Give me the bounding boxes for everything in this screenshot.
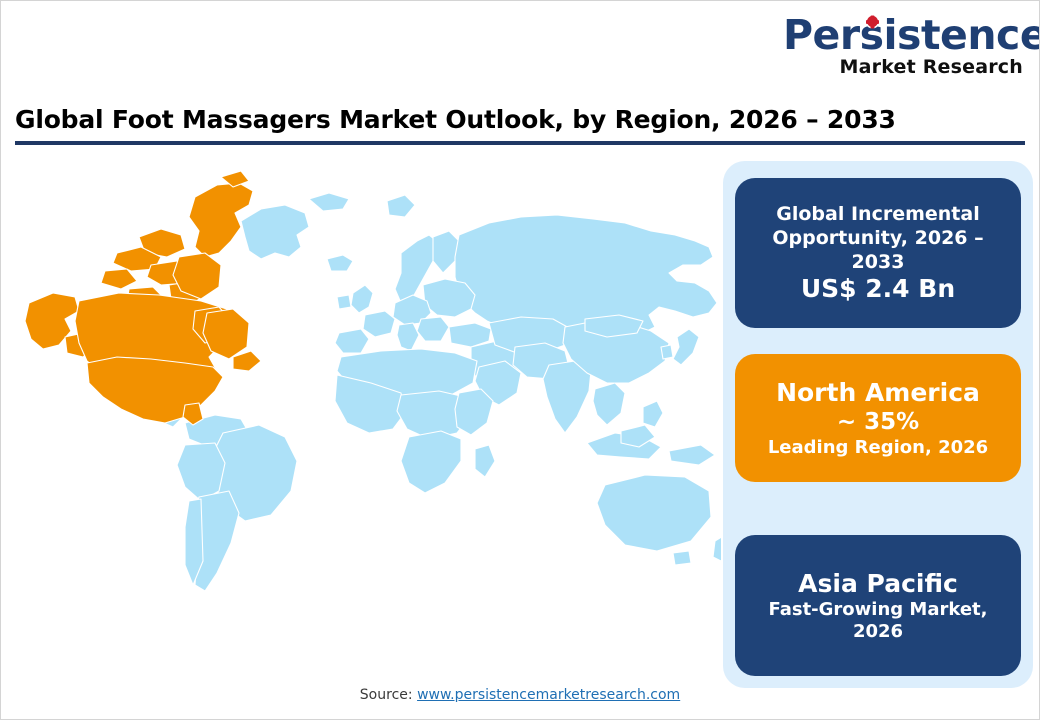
source-link[interactable]: www.persistencemarketresearch.com xyxy=(417,687,680,703)
gear-dot-icon xyxy=(867,16,878,27)
card-global-incremental-opportunity[interactable]: Global Incremental Opportunity, 2026 – 2… xyxy=(735,178,1021,328)
stats-panel: Global Incremental Opportunity, 2026 – 2… xyxy=(723,161,1033,688)
world-map-svg xyxy=(9,161,721,671)
card1-line2: Opportunity, 2026 – xyxy=(772,226,983,250)
region-tasmania xyxy=(673,551,691,565)
card1-value: US$ 2.4 Bn xyxy=(801,274,955,304)
infographic-root: Persistence Market Research Global Foot … xyxy=(0,0,1040,720)
region-philippines xyxy=(643,401,663,427)
region-ireland xyxy=(337,295,351,309)
region-new-guinea xyxy=(669,445,715,465)
card3-line1: Asia Pacific xyxy=(798,568,958,599)
region-svalbard xyxy=(387,195,415,217)
region-madagascar xyxy=(475,445,495,477)
world-map xyxy=(9,161,721,671)
title-divider xyxy=(15,141,1025,145)
page-title: Global Foot Massagers Market Outlook, by… xyxy=(15,105,1025,134)
region-iceland xyxy=(327,255,353,271)
card-fast-growing-market[interactable]: Asia Pacific Fast-Growing Market, 2026 xyxy=(735,535,1021,676)
region-southern-africa xyxy=(401,431,461,493)
region-arctic-islands xyxy=(309,193,349,211)
region-balkans xyxy=(417,317,449,341)
card2-line3: Leading Region, 2026 xyxy=(768,437,988,460)
region-mongolia xyxy=(585,315,643,337)
region-new-zealand xyxy=(713,535,721,561)
region-united-states xyxy=(87,357,223,423)
company-logo: Persistence Market Research xyxy=(783,15,1023,77)
region-iberia xyxy=(335,329,369,353)
map-highlight-north-america xyxy=(25,171,261,425)
card2-value: ~ 35% xyxy=(837,408,919,437)
region-india xyxy=(543,361,591,433)
region-greenland-east xyxy=(241,205,309,259)
source-label: Source: xyxy=(360,687,417,703)
header: Global Foot Massagers Market Outlook, by… xyxy=(15,105,1025,145)
card1-line3: 2033 xyxy=(852,250,905,274)
card1-line1: Global Incremental xyxy=(776,202,979,226)
region-indochina xyxy=(593,383,625,425)
card2-line1: North America xyxy=(776,377,980,408)
region-italy xyxy=(397,323,419,351)
region-france xyxy=(363,311,395,337)
region-japan xyxy=(673,329,699,365)
region-korea xyxy=(661,345,673,359)
source-row: Source: www.persistencemarketresearch.co… xyxy=(1,687,1039,703)
card3-line2: Fast-Growing Market, xyxy=(768,599,987,622)
logo-brand-text: Persistence xyxy=(783,15,1040,56)
region-east-africa xyxy=(455,389,493,435)
card3-line3: 2026 xyxy=(853,621,903,644)
region-uk xyxy=(351,285,373,313)
region-australia xyxy=(597,475,711,551)
card-leading-region[interactable]: North America ~ 35% Leading Region, 2026 xyxy=(735,354,1021,482)
logo-tagline: Market Research xyxy=(783,58,1023,77)
region-canada-arctic-4 xyxy=(101,269,137,289)
logo-brand-label: Persistence xyxy=(783,11,1040,59)
